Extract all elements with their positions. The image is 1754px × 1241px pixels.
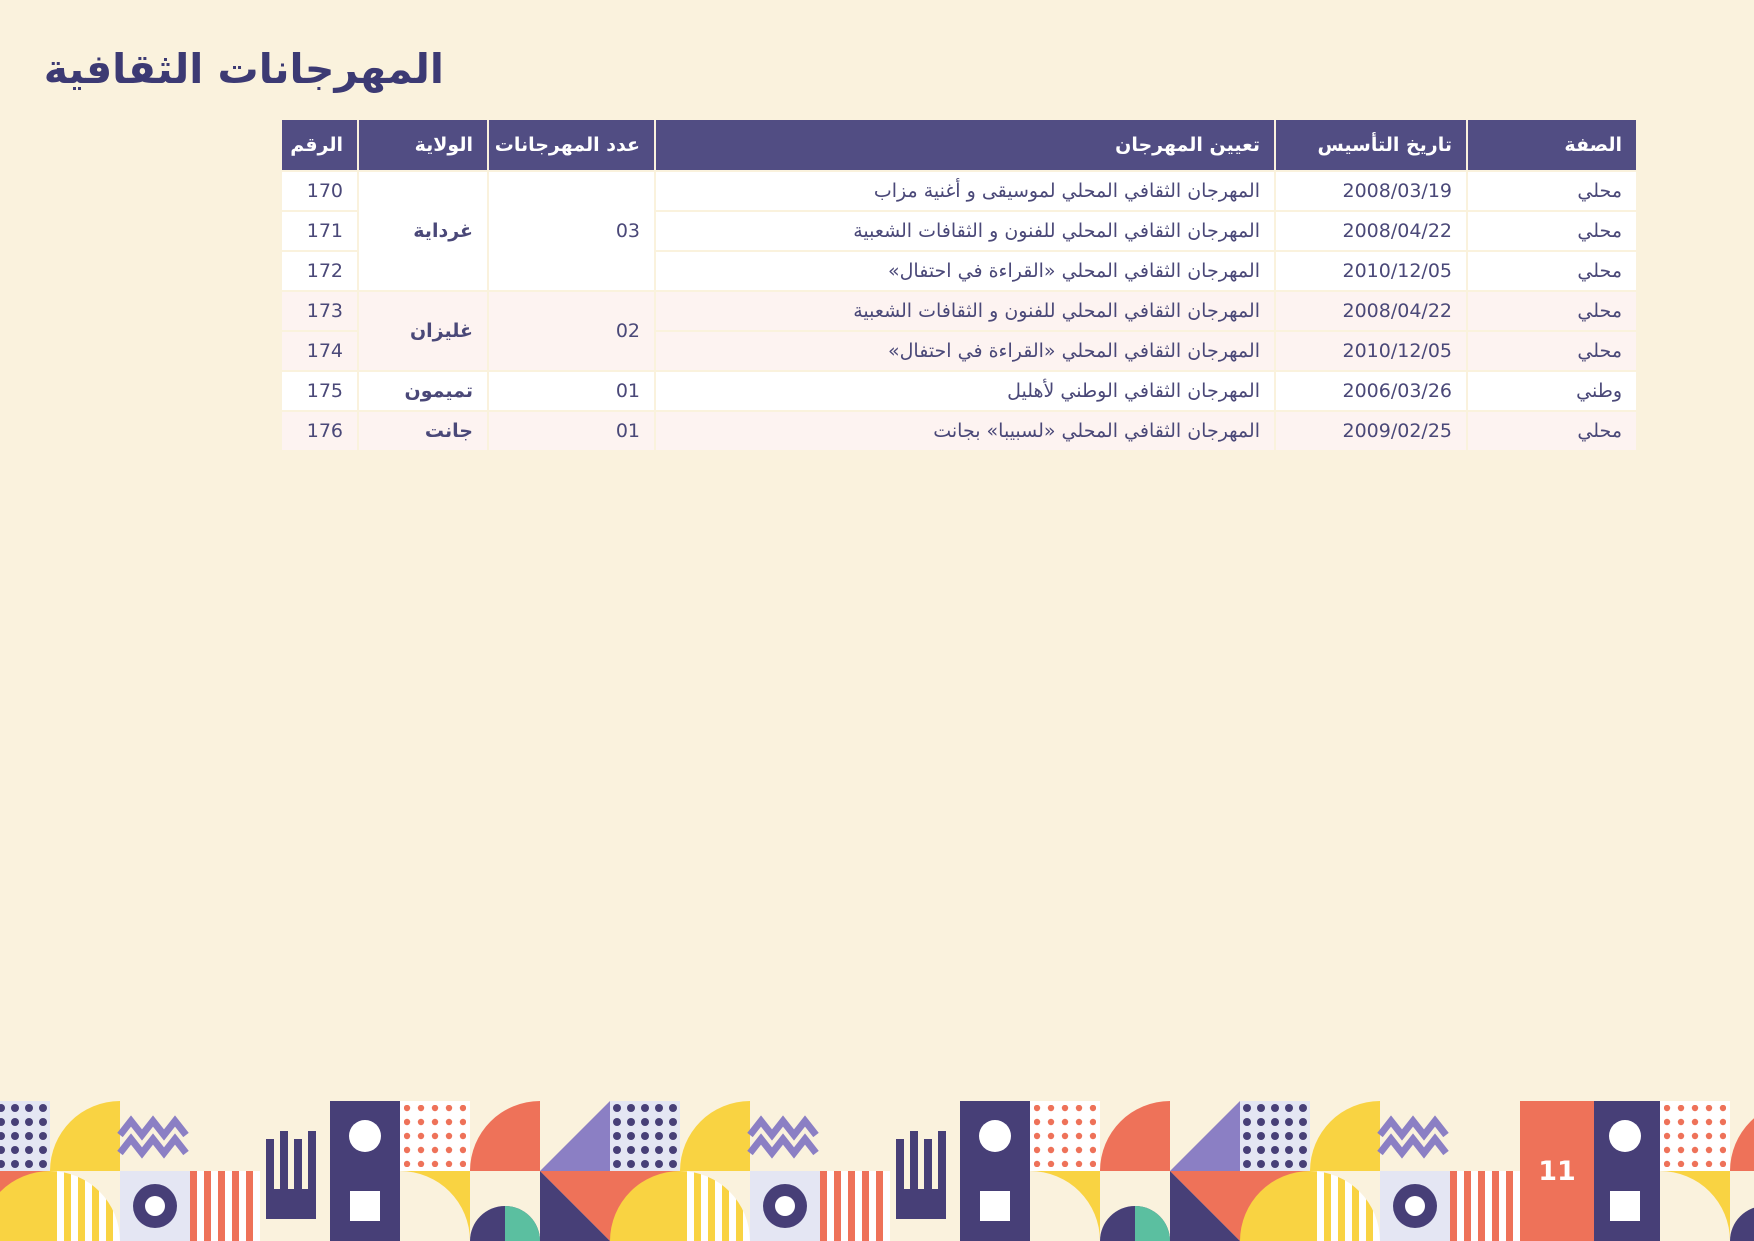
cell-type: محلي [1468,252,1636,290]
cell-date: 2008/03/19 [1276,172,1466,210]
cell-num: 172 [282,252,357,290]
cell-name: المهرجان الثقافي المحلي للفنون و الثقافا… [656,212,1274,250]
column-header-type: الصفة [1468,120,1636,170]
cell-num: 176 [282,412,357,450]
cell-date: 2009/02/25 [1276,412,1466,450]
cell-type: محلي [1468,332,1636,370]
cell-date: 2008/04/22 [1276,212,1466,250]
cell-wilaya: تميمون [359,372,487,410]
page-title: المهرجانات الثقافية [44,45,444,93]
festivals-table-container: الصفة تاريخ التأسيس تعيين المهرجان عدد ا… [294,118,1638,452]
cell-type: محلي [1468,172,1636,210]
cell-num: 171 [282,212,357,250]
cell-name: المهرجان الثقافي المحلي «القراءة في احتف… [656,332,1274,370]
column-header-name: تعيين المهرجان [656,120,1274,170]
table-header: الصفة تاريخ التأسيس تعيين المهرجان عدد ا… [282,120,1636,170]
cell-date: 2006/03/26 [1276,372,1466,410]
table-header-row: الصفة تاريخ التأسيس تعيين المهرجان عدد ا… [282,120,1636,170]
column-header-count: عدد المهرجانات [489,120,654,170]
column-header-date: تاريخ التأسيس [1276,120,1466,170]
page-number-badge: 11 [1520,1101,1594,1241]
table-row: محلي 2009/02/25 المهرجان الثقافي المحلي … [282,412,1636,450]
cell-count: 01 [489,372,654,410]
footer-decoration-band: 11 [0,1101,1754,1241]
cell-type: محلي [1468,212,1636,250]
cell-date: 2008/04/22 [1276,292,1466,330]
column-header-wilaya: الولاية [359,120,487,170]
cell-wilaya: جانت [359,412,487,450]
cell-count: 03 [489,172,654,290]
cell-count: 02 [489,292,654,370]
cell-type: وطني [1468,372,1636,410]
festivals-table: الصفة تاريخ التأسيس تعيين المهرجان عدد ا… [280,118,1638,452]
cell-date: 2010/12/05 [1276,332,1466,370]
column-header-num: الرقم [282,120,357,170]
geometric-pattern-svg [0,1101,1754,1241]
table-row: محلي 2008/03/19 المهرجان الثقافي المحلي … [282,172,1636,210]
cell-type: محلي [1468,412,1636,450]
table-row: وطني 2006/03/26 المهرجان الثقافي الوطني … [282,372,1636,410]
cell-num: 170 [282,172,357,210]
cell-name: المهرجان الثقافي المحلي لموسيقى و أغنية … [656,172,1274,210]
cell-name: المهرجان الثقافي الوطني لأهليل [656,372,1274,410]
document-page: المهرجانات الثقافية الصفة تاريخ التأسيس … [0,0,1754,1241]
cell-wilaya: غليزان [359,292,487,370]
cell-name: المهرجان الثقافي المحلي «القراءة في احتف… [656,252,1274,290]
cell-date: 2010/12/05 [1276,252,1466,290]
cell-num: 175 [282,372,357,410]
cell-count: 01 [489,412,654,450]
cell-type: محلي [1468,292,1636,330]
cell-num: 174 [282,332,357,370]
cell-num: 173 [282,292,357,330]
cell-wilaya: غرداية [359,172,487,290]
cell-name: المهرجان الثقافي المحلي «لسبيبا» بجانت [656,412,1274,450]
table-body: محلي 2008/03/19 المهرجان الثقافي المحلي … [282,172,1636,450]
cell-name: المهرجان الثقافي المحلي للفنون و الثقافا… [656,292,1274,330]
table-row: محلي 2008/04/22 المهرجان الثقافي المحلي … [282,292,1636,330]
